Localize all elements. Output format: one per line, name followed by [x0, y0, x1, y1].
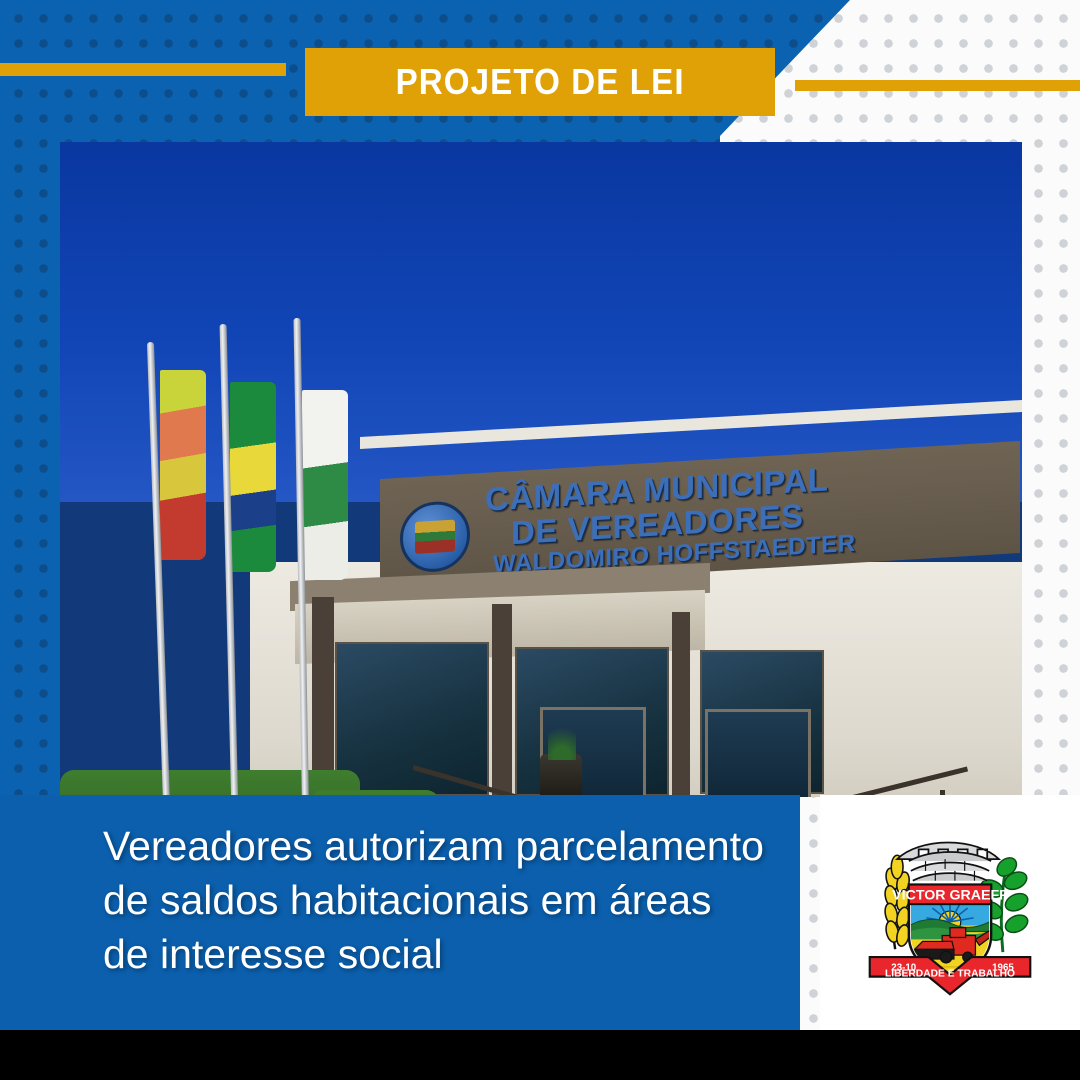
- rio-grande-do-sul-flag: [160, 370, 206, 560]
- crest-date-right: 1965: [992, 962, 1014, 973]
- entrance-planter: [540, 754, 582, 797]
- poster-canvas: PROJETO DE LEI CÂMARA MUNICIPAL DE VEREA…: [0, 0, 1080, 1080]
- municipal-seal-icon: [400, 500, 470, 574]
- pillar-3: [672, 612, 690, 797]
- municipal-flag: [302, 390, 348, 580]
- title-banner-label: PROJETO DE LEI: [395, 61, 684, 103]
- entrance-door-2: [705, 709, 811, 797]
- pillar-1: [312, 597, 334, 797]
- headline-line-2: de saldos habitacionais em áreas: [103, 873, 783, 927]
- victor-graeff-coat-of-arms-icon: VICTOR GRAEFF 23-10 LIBERDADE E TRABALHO…: [852, 820, 1048, 1006]
- glass-panel-1: [335, 642, 489, 796]
- headline-line-3: de interesse social: [103, 927, 783, 981]
- bottom-black-bar: [0, 1030, 1080, 1080]
- emblem-panel: VICTOR GRAEFF 23-10 LIBERDADE E TRABALHO…: [820, 795, 1080, 1030]
- brazil-flag: [230, 382, 276, 572]
- gold-rule-right: [795, 80, 1080, 91]
- gold-rule-left: [0, 63, 286, 76]
- building-sign-text: CÂMARA MUNICIPAL DE VEREADORES WALDOMIRO…: [485, 451, 1015, 577]
- headline-panel: Vereadores autorizam parcelamento de sal…: [0, 795, 800, 1030]
- building-photo: CÂMARA MUNICIPAL DE VEREADORES WALDOMIRO…: [60, 142, 1022, 797]
- headline-line-1: Vereadores autorizam parcelamento: [103, 819, 783, 873]
- mural-crown: [897, 842, 999, 880]
- crest-name-text: VICTOR GRAEFF: [892, 887, 1008, 903]
- pillar-2: [492, 604, 512, 797]
- headline-text: Vereadores autorizam parcelamento de sal…: [103, 819, 783, 981]
- title-banner: PROJETO DE LEI: [305, 48, 775, 116]
